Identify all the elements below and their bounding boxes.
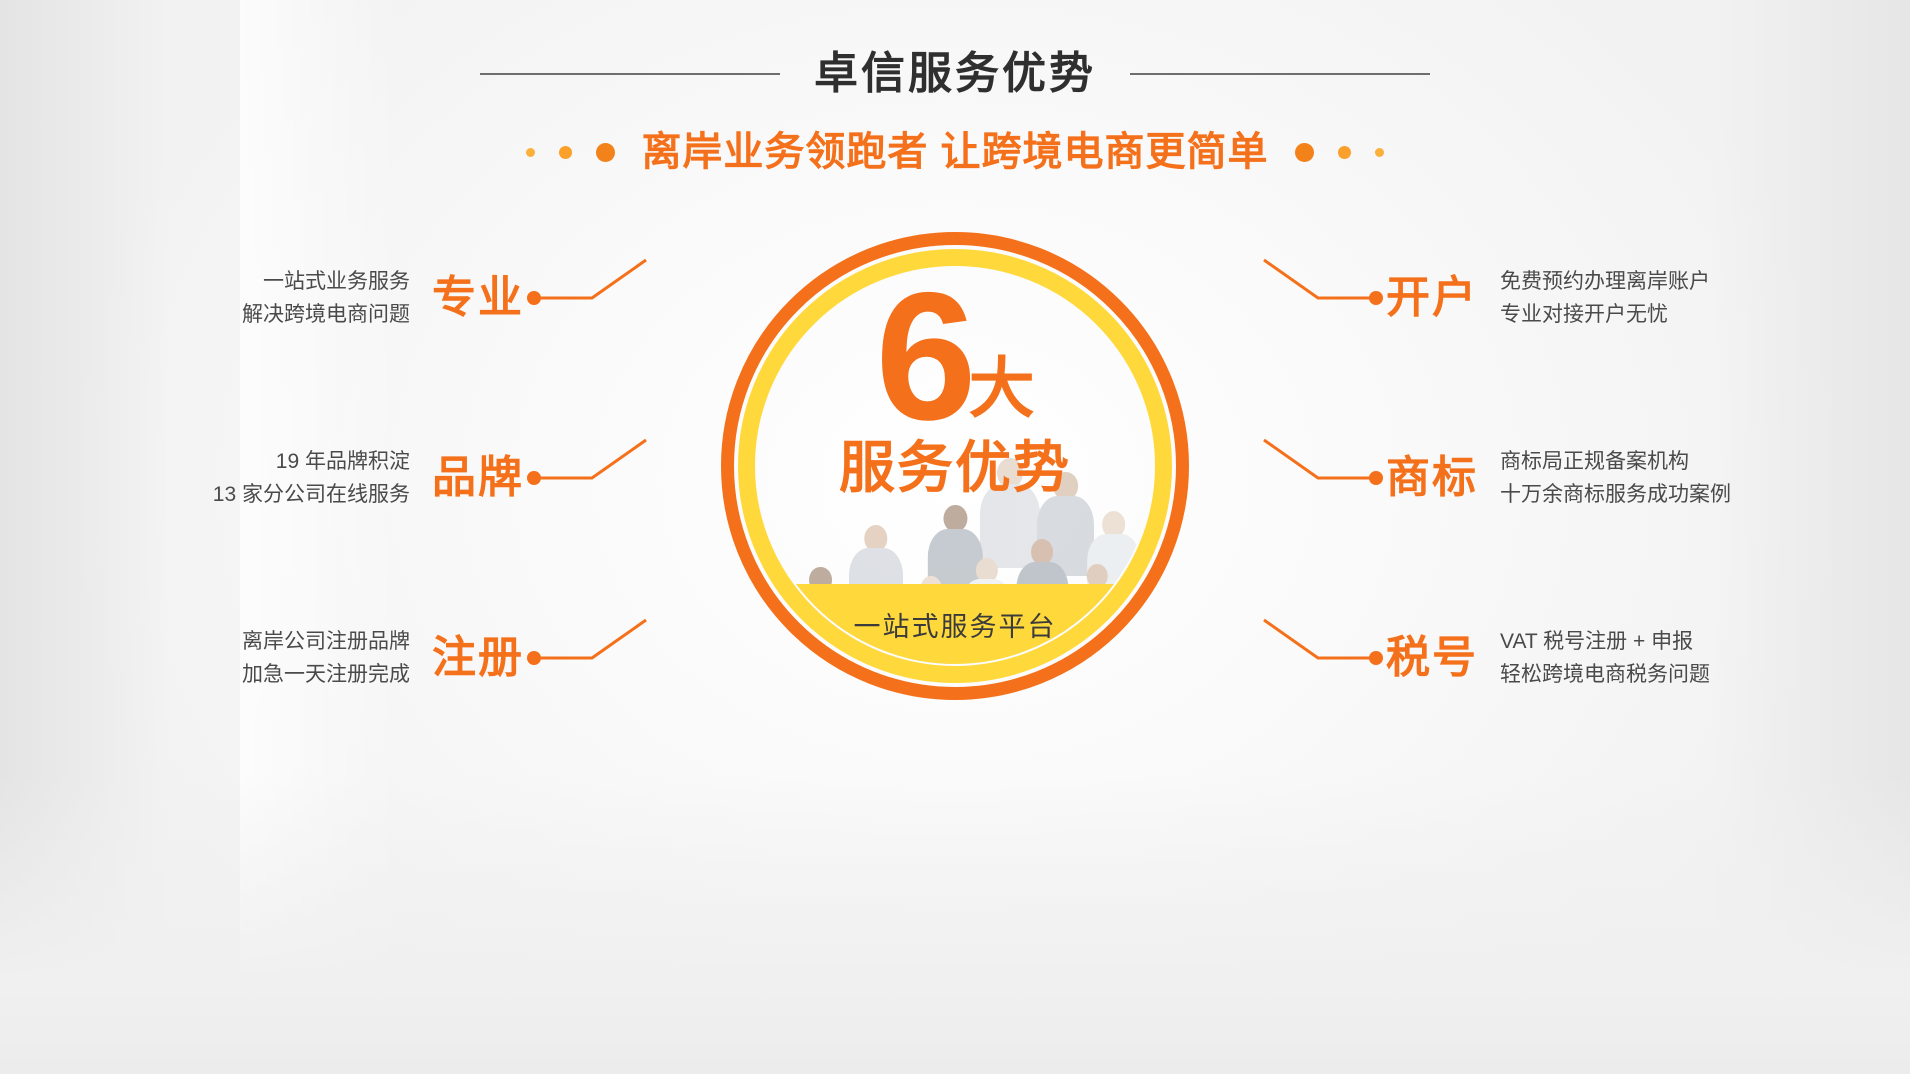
feature-description-line: 专业对接开户无忧: [1500, 303, 1668, 326]
connector-line-专业: [528, 246, 646, 350]
feature-keyword: 商标: [1386, 456, 1478, 500]
decorative-dot: [1295, 143, 1314, 162]
center-text-group: 6 大 服务优势: [757, 268, 1153, 664]
feature-description-line: 商标局正规备案机构: [1500, 450, 1689, 473]
decorative-dot: [596, 143, 615, 162]
center-number: 6: [875, 282, 972, 431]
connector-line-商标: [1264, 426, 1382, 530]
decorative-dots-left: [526, 143, 615, 162]
connector-line-注册: [528, 606, 646, 710]
decorative-dot: [1338, 146, 1351, 159]
connector-line-税号: [1264, 606, 1382, 710]
feature-description-line: 一站式业务服务: [263, 270, 410, 293]
title-rule-left: [480, 73, 780, 75]
decorative-dots-right: [1295, 143, 1384, 162]
feature-description: 免费预约办理离岸账户专业对接开户无忧: [1500, 270, 1710, 326]
feature-description: 19 年品牌积淀13 家分公司在线服务: [213, 450, 410, 506]
feature-item-开户[interactable]: 免费预约办理离岸账户专业对接开户无忧开户: [1264, 246, 1710, 350]
center-headline: 服务优势: [839, 423, 1071, 504]
feature-keyword: 专业: [432, 276, 524, 320]
feature-description: 一站式业务服务解决跨境电商问题: [242, 270, 410, 326]
center-number-row: 6 大: [875, 282, 1034, 431]
feature-description-line: 离岸公司注册品牌: [242, 630, 410, 653]
page-subtitle-row: 离岸业务领跑者 让跨境电商更简单: [0, 132, 1910, 172]
page-title: 卓信服务优势: [814, 52, 1096, 96]
circle-core: 一站式服务平台 6 大 服务优势: [757, 268, 1153, 664]
feature-description: 离岸公司注册品牌加急一天注册完成: [242, 630, 410, 686]
decorative-dot: [526, 148, 535, 157]
feature-keyword: 品牌: [432, 456, 524, 500]
infographic-canvas: 卓信服务优势 离岸业务领跑者 让跨境电商更简单 一站式服务平台 6 大 服务优势: [0, 0, 1910, 1074]
feature-description: VAT 税号注册 + 申报轻松跨境电商税务问题: [1500, 630, 1710, 686]
feature-description-line: 轻松跨境电商税务问题: [1500, 663, 1710, 686]
feature-item-品牌[interactable]: 19 年品牌积淀13 家分公司在线服务品牌: [213, 426, 646, 530]
feature-description: 商标局正规备案机构十万余商标服务成功案例: [1500, 450, 1731, 506]
feature-item-税号[interactable]: VAT 税号注册 + 申报轻松跨境电商税务问题税号: [1264, 606, 1710, 710]
feature-description-line: 解决跨境电商问题: [242, 303, 410, 326]
connector-line-开户: [1264, 246, 1382, 350]
feature-description-line: 免费预约办理离岸账户: [1500, 270, 1710, 293]
connector-line-品牌: [528, 426, 646, 530]
feature-description-line: 13 家分公司在线服务: [213, 483, 410, 506]
center-circle: 一站式服务平台 6 大 服务优势: [721, 232, 1189, 700]
title-rule-right: [1130, 73, 1430, 75]
feature-item-注册[interactable]: 离岸公司注册品牌加急一天注册完成注册: [242, 606, 646, 710]
feature-keyword: 税号: [1386, 636, 1478, 680]
feature-description-line: 加急一天注册完成: [242, 663, 410, 686]
feature-description-line: VAT 税号注册 + 申报: [1500, 630, 1693, 653]
feature-keyword: 开户: [1386, 276, 1478, 320]
decorative-dot: [559, 146, 572, 159]
feature-item-商标[interactable]: 商标局正规备案机构十万余商标服务成功案例商标: [1264, 426, 1731, 530]
center-number-unit: 大: [969, 361, 1035, 415]
feature-keyword: 注册: [432, 636, 524, 680]
page-subtitle: 离岸业务领跑者 让跨境电商更简单: [641, 132, 1268, 172]
bottom-fade: [0, 774, 1910, 1074]
feature-description-line: 十万余商标服务成功案例: [1500, 483, 1731, 506]
page-title-row: 卓信服务优势: [0, 52, 1910, 96]
decorative-dot: [1375, 148, 1384, 157]
feature-description-line: 19 年品牌积淀: [276, 450, 410, 473]
feature-item-专业[interactable]: 一站式业务服务解决跨境电商问题专业: [242, 246, 646, 350]
